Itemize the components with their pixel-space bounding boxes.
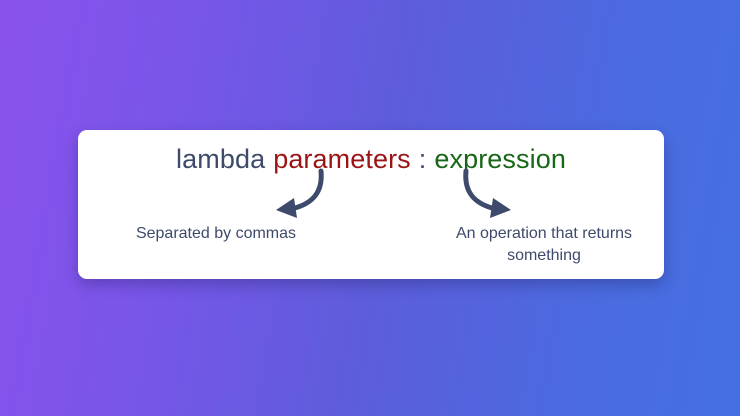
- syntax-card: lambdaparameters:expression Separated by…: [78, 130, 664, 279]
- slide-canvas: lambdaparameters:expression Separated by…: [0, 0, 740, 416]
- arrow-down-right-icon: [456, 168, 526, 229]
- token-lambda: lambda: [176, 144, 265, 174]
- caption-expression: An operation that returns something: [418, 223, 664, 267]
- token-colon: :: [419, 144, 427, 174]
- lambda-syntax-line: lambdaparameters:expression: [78, 142, 664, 176]
- caption-parameters: Separated by commas: [91, 223, 341, 245]
- arrow-down-left-icon: [263, 168, 333, 229]
